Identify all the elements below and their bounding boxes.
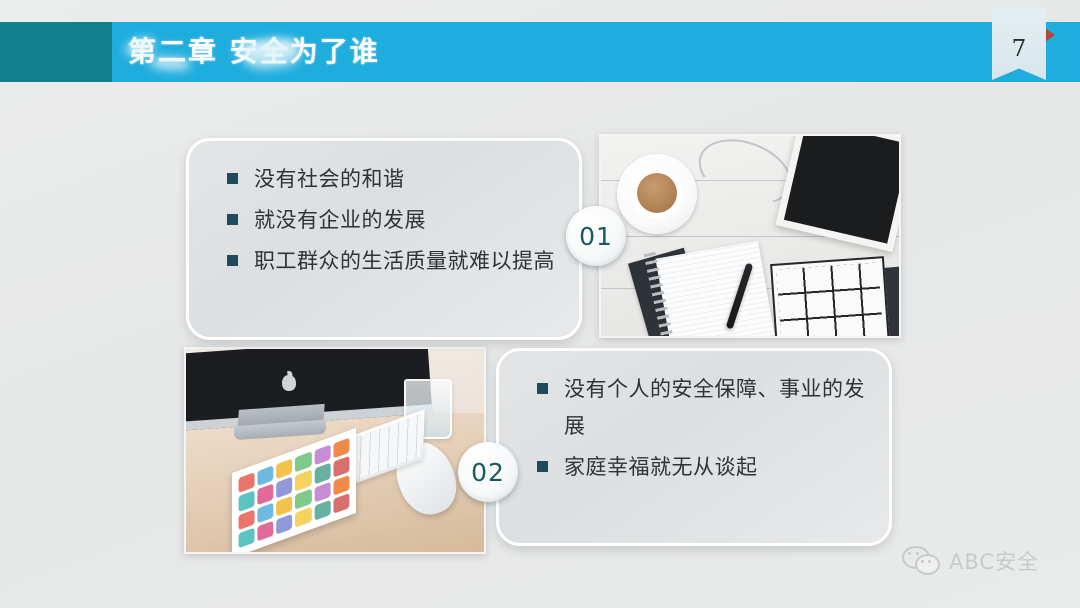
bullet-text: 没有个人的安全保障、事业的发展 xyxy=(564,371,875,445)
app-icon xyxy=(333,438,349,459)
app-icon xyxy=(276,495,292,516)
bullet-item: 没有个人的安全保障、事业的发展 xyxy=(537,371,875,445)
app-icon xyxy=(295,470,311,491)
app-icon xyxy=(333,493,349,514)
wechat-eye xyxy=(921,560,924,563)
app-icon xyxy=(314,463,330,484)
bullet-item: 职工群众的生活质量就难以提高 xyxy=(227,243,565,280)
wechat-eye xyxy=(908,552,911,555)
step-badge-01: 01 xyxy=(566,206,626,266)
bullet-text: 家庭幸福就无从谈起 xyxy=(564,449,758,486)
apple-logo-icon xyxy=(281,375,296,392)
wechat-icon xyxy=(902,546,944,576)
tablet-device-shape xyxy=(775,134,901,252)
bullet-item: 家庭幸福就无从谈起 xyxy=(537,449,875,486)
wechat-eye xyxy=(928,560,931,563)
photo-imac-desk xyxy=(184,347,486,554)
bullet-list-02: 没有个人的安全保障、事业的发展 家庭幸福就无从谈起 xyxy=(537,371,875,490)
app-icon xyxy=(239,491,255,512)
bullet-item: 没有社会的和谐 xyxy=(227,161,565,198)
watermark: ABC安全 xyxy=(902,546,1039,576)
bullet-text: 就没有企业的发展 xyxy=(254,202,426,239)
header-accent-block xyxy=(0,22,112,82)
photo-desk-flatlay xyxy=(599,134,901,338)
wechat-eye xyxy=(916,552,919,555)
app-icon xyxy=(276,477,292,498)
watermark-text: ABC安全 xyxy=(949,546,1039,576)
app-icon xyxy=(333,456,349,477)
app-icon xyxy=(257,520,273,541)
planner-grid-lines xyxy=(776,263,883,338)
app-icon xyxy=(295,452,311,473)
content-card-01: 没有社会的和谐 就没有企业的发展 职工群众的生活质量就难以提高 xyxy=(186,138,582,340)
bullet-square-icon xyxy=(227,255,238,266)
app-icon xyxy=(276,513,292,534)
presentation-slide: 第二章 安全为了谁 7 xyxy=(0,0,1080,608)
app-icon xyxy=(239,509,255,530)
app-icon xyxy=(314,445,330,466)
bullet-square-icon xyxy=(227,214,238,225)
bullet-square-icon xyxy=(537,383,548,394)
white-notebook-shape xyxy=(655,241,774,338)
app-icon xyxy=(295,507,311,528)
app-icon xyxy=(314,481,330,502)
wechat-bubble-front xyxy=(915,554,940,575)
ribbon-tip-icon xyxy=(1045,28,1055,42)
app-icon xyxy=(276,458,292,479)
page-number: 7 xyxy=(1012,36,1027,62)
coffee-liquid-shape xyxy=(637,173,677,213)
planner-grid-shape xyxy=(770,256,890,338)
app-icon xyxy=(333,474,349,495)
bullet-item: 就没有企业的发展 xyxy=(227,202,565,239)
content-card-02: 没有个人的安全保障、事业的发展 家庭幸福就无从谈起 xyxy=(496,348,892,546)
bullet-square-icon xyxy=(227,173,238,184)
bullet-text: 职工群众的生活质量就难以提高 xyxy=(254,243,555,280)
app-icon xyxy=(257,465,273,486)
bullet-text: 没有社会的和谐 xyxy=(254,161,405,198)
tablet-screen-shape xyxy=(784,134,901,244)
app-icon xyxy=(295,488,311,509)
app-icon xyxy=(314,500,330,521)
bullet-list-01: 没有社会的和谐 就没有企业的发展 职工群众的生活质量就难以提高 xyxy=(227,161,565,284)
step-badge-02: 02 xyxy=(458,442,518,502)
app-icon xyxy=(239,472,255,493)
app-icon xyxy=(239,527,255,548)
app-icon xyxy=(257,502,273,523)
app-icon xyxy=(257,484,273,505)
slide-title: 第二章 安全为了谁 xyxy=(128,30,380,70)
bullet-square-icon xyxy=(537,461,548,472)
